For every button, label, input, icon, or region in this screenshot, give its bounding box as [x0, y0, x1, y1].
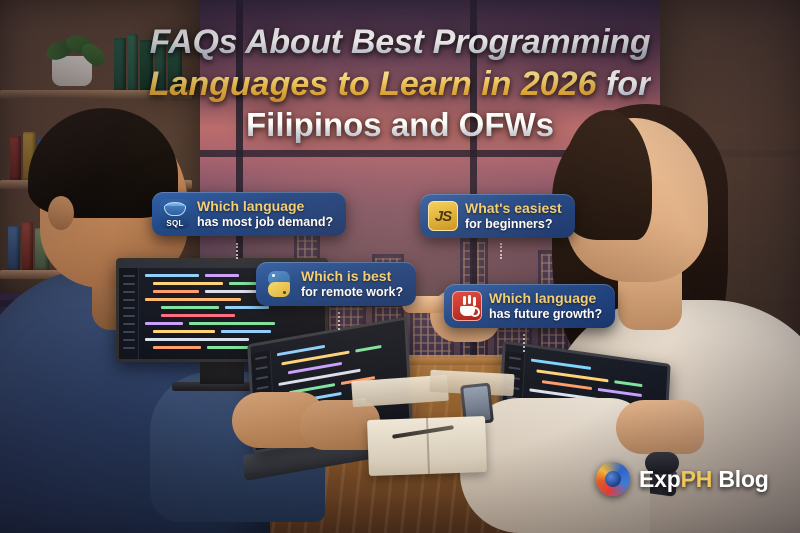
title-line1-part2: Best Programming	[351, 23, 650, 61]
leader-line-python	[338, 312, 340, 330]
site-logo[interactable]: ExpPH Blog	[596, 462, 769, 496]
sql-database-icon: SQL	[160, 199, 190, 229]
woman-hand-on-laptop	[616, 400, 704, 454]
faq-java-line2: has future growth?	[489, 307, 602, 321]
faq-python-line2: for remote work?	[301, 285, 403, 299]
title-line2-highlight: Languages to Learn in 2026	[149, 65, 597, 103]
monitor-stand	[200, 362, 244, 384]
leader-line-javascript	[500, 243, 502, 259]
faq-sql-line2: has most job demand?	[197, 215, 333, 229]
logo-text-blog: Blog	[712, 466, 769, 492]
faq-python-line1: Which is best	[301, 269, 403, 285]
faq-bubble-javascript[interactable]: JS What's easiest for beginners?	[420, 194, 575, 238]
page-title: FAQs About Best Programming Languages to…	[0, 24, 800, 143]
faq-js-line2: for beginners?	[465, 217, 562, 231]
open-notebook	[367, 416, 487, 476]
title-line2-tail: for	[597, 65, 652, 103]
sql-icon-label: SQL	[160, 219, 190, 228]
faq-bubble-java-text: Which language has future growth?	[489, 291, 602, 321]
faq-bubble-sql-text: Which language has most job demand?	[197, 199, 333, 229]
faq-js-line1: What's easiest	[465, 201, 562, 217]
logo-text-ph: PH	[681, 466, 713, 492]
title-line3: Filipinos and OFWs	[246, 106, 554, 143]
faq-java-line1: Which language	[489, 291, 602, 307]
faq-bubble-javascript-text: What's easiest for beginners?	[465, 201, 562, 231]
faq-bubble-python-text: Which is best for remote work?	[301, 269, 403, 299]
faq-bubble-sql[interactable]: SQL Which language has most job demand?	[152, 192, 346, 236]
site-logo-text: ExpPH Blog	[639, 466, 769, 493]
faq-sql-line1: Which language	[197, 199, 333, 215]
java-coffee-icon	[452, 291, 482, 321]
promo-banner: FAQs About Best Programming Languages to…	[0, 0, 800, 533]
leader-line-java	[523, 334, 525, 352]
logo-text-exp: Exp	[639, 466, 681, 492]
faq-bubble-java[interactable]: Which language has future growth?	[444, 284, 615, 328]
expph-globe-icon	[596, 462, 630, 496]
man-ear	[48, 196, 74, 230]
title-line1-part1: FAQs About	[150, 23, 351, 61]
javascript-icon: JS	[428, 201, 458, 231]
faq-bubble-python[interactable]: Which is best for remote work?	[256, 262, 416, 306]
js-icon-label: JS	[435, 208, 451, 225]
python-icon	[264, 269, 294, 299]
leader-line-sql	[236, 243, 238, 259]
